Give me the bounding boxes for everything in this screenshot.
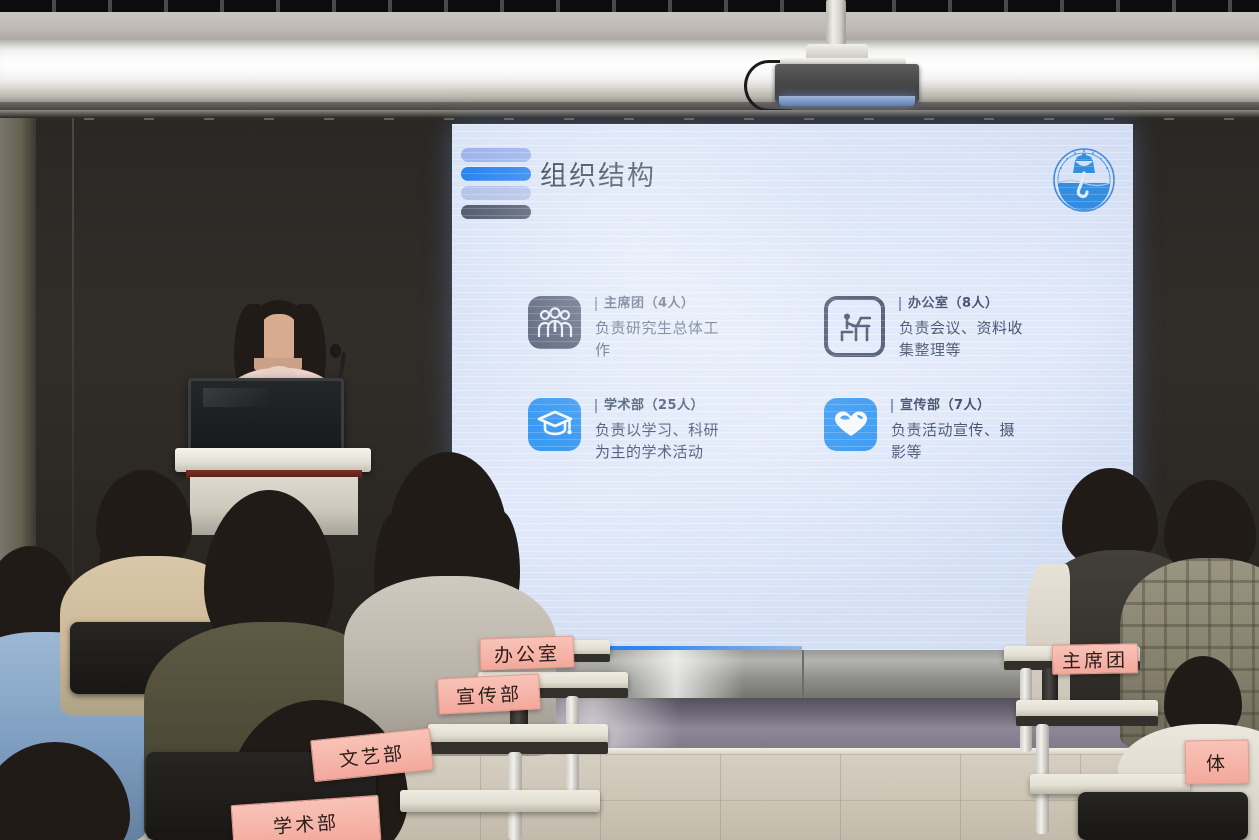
university-emblem-icon: [1051, 147, 1117, 213]
org-item-body: 负责活动宣传、摄影等: [891, 420, 1026, 464]
accent-bar-3: [461, 186, 531, 200]
accent-bar-1: [461, 148, 531, 162]
org-item: 学术部（25人） 负责以学习、科研为主的学术活动: [528, 398, 792, 464]
org-item-body: 负责以学习、科研为主的学术活动: [595, 420, 730, 464]
desk: [400, 790, 600, 812]
accent-bar-4: [461, 205, 531, 219]
accent-bar-2: [461, 167, 531, 181]
name-card-label: 学术部: [272, 807, 340, 839]
name-card-label: 主席团: [1062, 645, 1128, 673]
desk-name-card: 宣传部: [437, 673, 541, 714]
projector-indicator-light: [779, 96, 915, 106]
chair-back: [1078, 792, 1248, 840]
podium-top: [175, 448, 371, 472]
desk-name-card: 办公室: [479, 635, 574, 670]
microphone-head: [330, 344, 341, 358]
org-item: 宣传部（7人） 负责活动宣传、摄影等: [824, 398, 1088, 464]
org-item-body: 负责研究生总体工作: [595, 318, 730, 362]
presenter-laptop: [188, 378, 344, 456]
desk-name-card: 主席团: [1052, 643, 1139, 674]
projection-screen: 组织结构: [452, 124, 1133, 652]
heart-hand-icon: [824, 398, 877, 451]
slide-title: 组织结构: [540, 154, 656, 193]
desk-name-card: 体: [1185, 739, 1250, 784]
lecture-hall-scene: 组织结构: [0, 0, 1259, 840]
people-group-icon: [528, 296, 581, 349]
stage-riser-seam: [802, 650, 804, 698]
org-item: 主席团（4人） 负责研究生总体工作: [528, 296, 792, 362]
ceiling-slab: [0, 12, 1259, 42]
slide-content-grid: 主席团（4人） 负责研究生总体工作 办公室（8人）: [528, 296, 1088, 464]
desk: [1030, 774, 1190, 794]
slide-accent-bars: [461, 148, 531, 224]
name-card-label: 办公室: [494, 638, 561, 667]
org-item-heading: 学术部（25人）: [595, 399, 730, 413]
org-item-body: 负责会议、资料收集整理等: [899, 318, 1034, 362]
org-item-heading: 主席团（4人）: [595, 297, 730, 311]
name-card-label: 宣传部: [455, 679, 522, 709]
screen-top-rail: [0, 110, 1259, 118]
desk: [428, 724, 608, 744]
name-card-label: 文艺部: [338, 738, 406, 772]
cove-light-glow: [0, 44, 1259, 80]
graduation-cap-icon: [528, 398, 581, 451]
org-item-heading: 宣传部（7人）: [891, 399, 1026, 413]
person-at-desk-icon: [824, 296, 885, 357]
name-card-label: 体: [1206, 748, 1228, 775]
org-item-heading: 办公室（8人）: [899, 297, 1034, 311]
org-item: 办公室（8人） 负责会议、资料收集整理等: [824, 296, 1088, 362]
